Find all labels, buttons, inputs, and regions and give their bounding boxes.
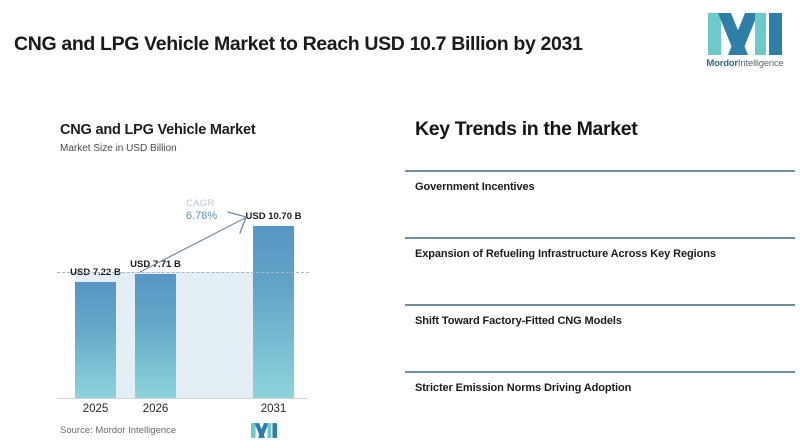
baseline-dashed-line: [57, 272, 309, 273]
trend-item-4[interactable]: Stricter Emission Norms Driving Adoption: [405, 371, 795, 438]
x-axis-tick-2031: 2031: [261, 403, 287, 415]
trend-label: Stricter Emission Norms Driving Adoption: [415, 382, 631, 394]
bar-2025: [75, 282, 116, 398]
x-axis-tick-2025: 2025: [83, 403, 109, 415]
cagr-value: 6.78%: [186, 210, 217, 222]
logo-word-mordor: Mordor: [706, 58, 738, 69]
trend-item-1[interactable]: Government Incentives: [405, 170, 795, 237]
market-size-chart-panel: CNG and LPG Vehicle Market Market Size i…: [0, 100, 380, 448]
bar-value-label-2031: USD 10.70 B: [246, 211, 302, 222]
trend-label: Government Incentives: [415, 181, 535, 193]
trend-divider: [405, 170, 795, 172]
trend-item-3[interactable]: Shift Toward Factory-Fitted CNG Models: [405, 304, 795, 371]
logo-word-intelligence: Intelligence: [738, 58, 784, 69]
page-header: CNG and LPG Vehicle Market to Reach USD …: [0, 0, 800, 92]
key-trends-panel: Key Trends in the Market Government Ince…: [395, 100, 800, 448]
cagr-label: CAGR: [186, 198, 215, 209]
trend-divider: [405, 304, 795, 306]
page-title: CNG and LPG Vehicle Market to Reach USD …: [14, 33, 583, 56]
bar-2026: [135, 274, 176, 398]
x-axis-tick-2026: 2026: [143, 403, 169, 415]
bar-value-label-2026: USD 7.71 B: [130, 259, 181, 270]
trend-label: Expansion of Refueling Infrastructure Ac…: [415, 248, 716, 260]
trend-divider: [405, 371, 795, 373]
trend-item-2[interactable]: Expansion of Refueling Infrastructure Ac…: [405, 237, 795, 304]
x-axis-line: [57, 398, 309, 399]
mordor-logo-mark: [708, 11, 782, 57]
bar-2031: [253, 226, 294, 398]
mordor-logo-mark-small: [251, 422, 277, 439]
mordor-logo-wordmark: MordorIntelligence: [700, 58, 790, 69]
chart-source-text: Source: Mordor Intelligence: [60, 425, 176, 436]
key-trends-heading: Key Trends in the Market: [415, 118, 637, 141]
bar-chart-plot-area: USD 7.22 B USD 7.71 B USD 10.70 B 2025 2…: [0, 100, 380, 448]
mordor-intelligence-logo: MordorIntelligence: [700, 11, 790, 79]
trend-divider: [405, 237, 795, 239]
trend-label: Shift Toward Factory-Fitted CNG Models: [415, 315, 622, 327]
